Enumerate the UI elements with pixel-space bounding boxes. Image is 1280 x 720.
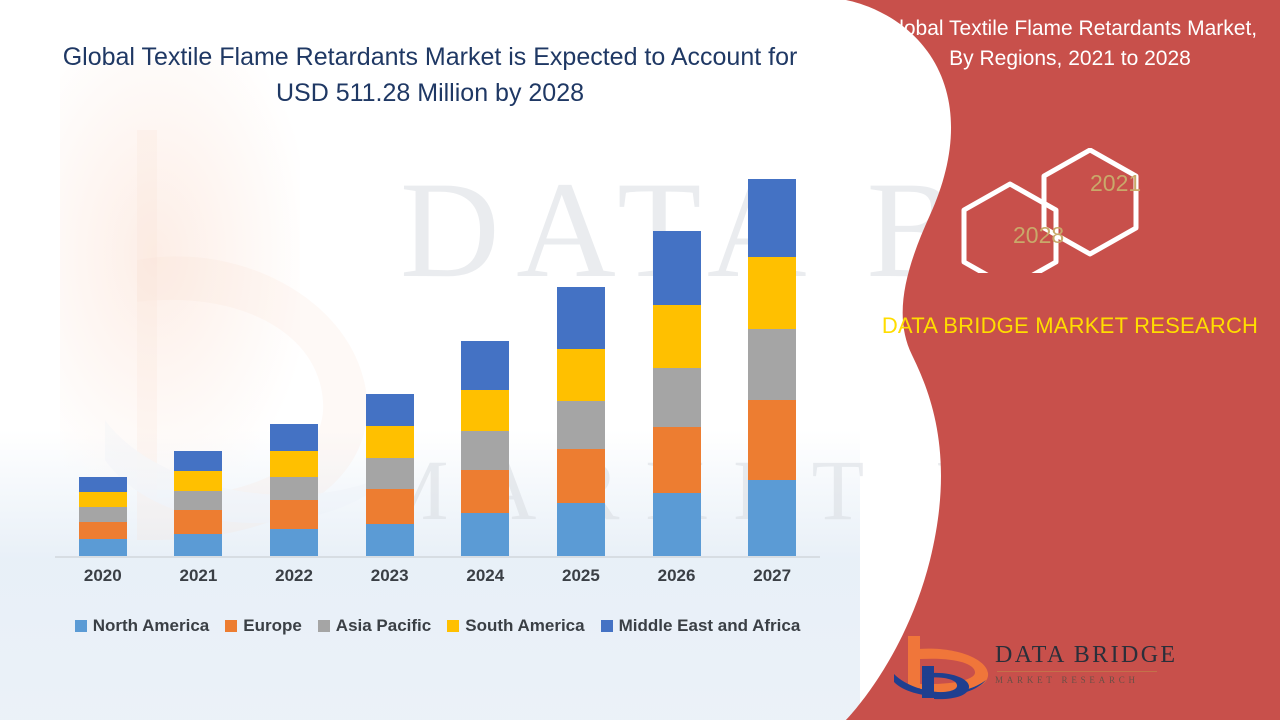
bar-segment [653, 427, 701, 493]
logo-divider [997, 671, 1157, 672]
stacked-bar [461, 341, 509, 556]
bar-segment [461, 431, 509, 470]
legend-swatch-icon [225, 620, 237, 632]
logo-main-text: DATA BRIDGE [995, 642, 1177, 669]
bar-segment [461, 390, 509, 432]
panel-title: Global Textile Flame Retardants Market, … [880, 14, 1260, 75]
bar-segment [79, 539, 127, 556]
hexagon-label-2028: 2028 [1013, 222, 1064, 249]
bar-segment [79, 522, 127, 539]
legend-item[interactable]: Middle East and Africa [601, 616, 801, 636]
legend-swatch-icon [318, 620, 330, 632]
bar-segment [653, 368, 701, 427]
stacked-bar [79, 477, 127, 556]
bar-segment [270, 451, 318, 476]
legend-label: South America [465, 616, 584, 636]
stacked-bar-series [55, 150, 820, 556]
logo-sub-text: MARKET RESEARCH [995, 675, 1177, 685]
bar-segment [748, 257, 796, 329]
bar-segment [366, 426, 414, 457]
bar-segment [270, 529, 318, 556]
bar-segment [653, 305, 701, 368]
stacked-bar [366, 394, 414, 556]
bar-column [629, 150, 724, 556]
bar-segment [366, 458, 414, 489]
bar-segment [174, 491, 222, 510]
bar-segment [557, 287, 605, 349]
bar-segment [653, 493, 701, 556]
brand-text: DATA BRIDGE MARKET RESEARCH [880, 310, 1260, 342]
hexagon-label-2021: 2021 [1090, 170, 1141, 197]
bar-segment [461, 470, 509, 514]
x-axis-tick-label: 2027 [725, 566, 820, 586]
stacked-bar [653, 231, 701, 556]
bar-segment [366, 524, 414, 556]
legend-item[interactable]: North America [75, 616, 210, 636]
bar-column [725, 150, 820, 556]
stacked-bar [748, 179, 796, 556]
bar-segment [557, 503, 605, 556]
legend-item[interactable]: Asia Pacific [318, 616, 431, 636]
logo-wordmark: DATA BRIDGE MARKET RESEARCH [995, 642, 1177, 685]
legend-label: Middle East and Africa [619, 616, 801, 636]
legend-swatch-icon [601, 620, 613, 632]
bar-column [55, 150, 150, 556]
bar-segment [79, 477, 127, 492]
bar-segment [174, 451, 222, 470]
bar-segment [174, 471, 222, 491]
stacked-bar [270, 424, 318, 556]
x-axis-labels: 20202021202220232024202520262027 [55, 566, 820, 586]
bar-segment [270, 477, 318, 500]
bar-segment [79, 507, 127, 521]
bar-segment [270, 500, 318, 528]
bar-segment [174, 510, 222, 533]
bar-segment [748, 400, 796, 480]
bar-column [247, 150, 342, 556]
x-axis-line [55, 556, 820, 558]
x-axis-tick-label: 2021 [151, 566, 246, 586]
x-axis-tick-label: 2025 [533, 566, 628, 586]
legend-label: Europe [243, 616, 302, 636]
legend-label: Asia Pacific [336, 616, 431, 636]
stacked-bar [174, 451, 222, 556]
bar-segment [557, 349, 605, 401]
x-axis-tick-label: 2023 [342, 566, 437, 586]
legend-item[interactable]: South America [447, 616, 584, 636]
bar-segment [79, 492, 127, 507]
bar-segment [557, 401, 605, 450]
bar-segment [557, 449, 605, 503]
legend-label: North America [93, 616, 210, 636]
bar-column [151, 150, 246, 556]
infographic-canvas: DATA BRIDGE MARKET RESEARCH Global Texti… [0, 0, 1280, 720]
bar-segment [748, 179, 796, 256]
x-axis-tick-label: 2020 [55, 566, 150, 586]
bar-segment [366, 394, 414, 426]
legend-swatch-icon [447, 620, 459, 632]
bar-segment [366, 489, 414, 524]
x-axis-tick-label: 2026 [629, 566, 724, 586]
bar-segment [748, 480, 796, 556]
bar-column [342, 150, 437, 556]
legend-swatch-icon [75, 620, 87, 632]
bar-segment [461, 513, 509, 556]
legend-item[interactable]: Europe [225, 616, 302, 636]
bar-segment [461, 341, 509, 390]
bar-segment [653, 231, 701, 305]
x-axis-tick-label: 2022 [247, 566, 342, 586]
bar-column [533, 150, 628, 556]
stacked-bar [557, 287, 605, 556]
chart-legend: North AmericaEuropeAsia PacificSouth Ame… [55, 616, 820, 636]
bar-segment [270, 424, 318, 451]
chart-panel: DATA BRIDGE MARKET RESEARCH Global Texti… [0, 0, 900, 720]
bar-column [438, 150, 533, 556]
red-panel-content: Global Textile Flame Retardants Market, … [900, 0, 1280, 720]
chart-title: Global Textile Flame Retardants Market i… [60, 40, 800, 111]
x-axis-tick-label: 2024 [438, 566, 533, 586]
hexagon-pair-icon [890, 148, 1250, 273]
bar-segment [174, 534, 222, 556]
bar-segment [748, 329, 796, 400]
